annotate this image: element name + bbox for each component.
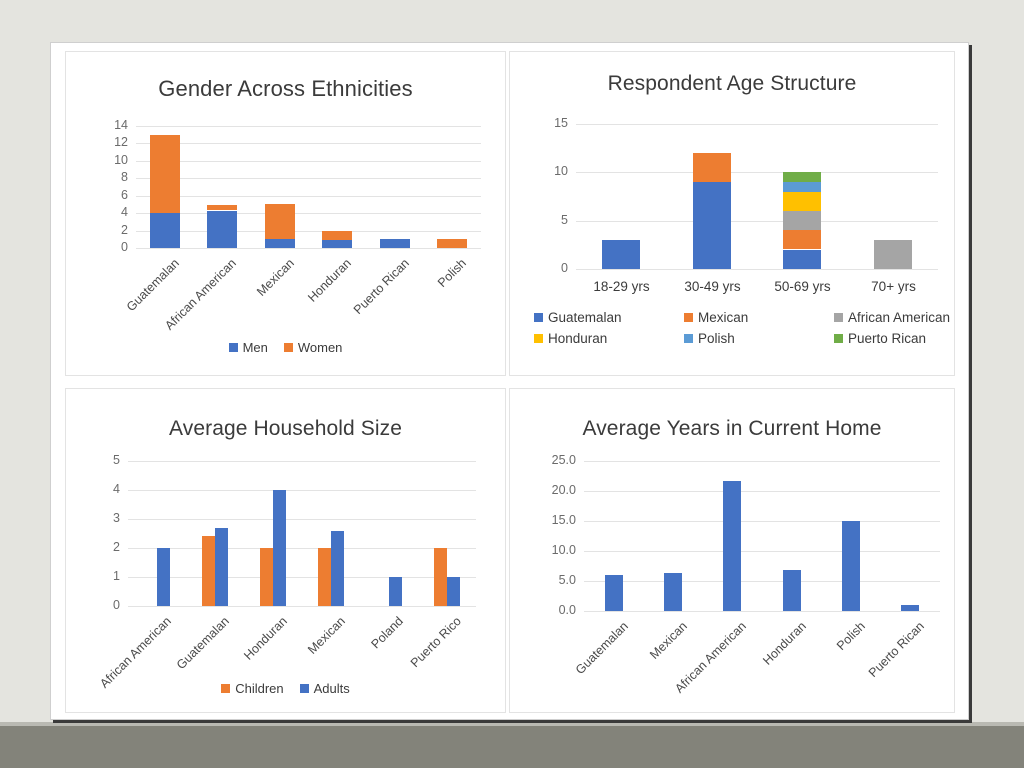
bar-segment[interactable] (322, 231, 352, 240)
y-axis-tick-label: 14 (82, 118, 128, 132)
chart-panel-average-years-in-current-home[interactable]: Average Years in Current Home 0.05.010.0… (509, 388, 955, 713)
x-axis-category-label: 30-49 yrs (667, 279, 758, 294)
gridline (136, 213, 481, 214)
gridline (576, 221, 938, 222)
legend-item[interactable]: Women (284, 340, 343, 355)
gridline (128, 461, 476, 462)
bar[interactable] (447, 577, 460, 606)
y-axis-tick-label: 8 (82, 170, 128, 184)
gridline (136, 196, 481, 197)
bar[interactable] (260, 548, 273, 606)
gridline (576, 269, 938, 270)
x-axis-category-label: African American (116, 256, 239, 376)
gridline (584, 461, 940, 462)
x-axis-category-label: Mexican (174, 256, 297, 376)
y-axis-tick-label: 20.0 (530, 483, 576, 497)
legend-swatch-icon (284, 343, 293, 352)
y-axis-tick-label: 3 (74, 511, 120, 525)
bar-segment[interactable] (380, 239, 410, 248)
bar-segment[interactable] (693, 182, 731, 269)
gridline (584, 581, 940, 582)
bar[interactable] (202, 536, 215, 606)
bar[interactable] (273, 490, 286, 606)
chart-panel-average-household-size[interactable]: Average Household Size 012345African Ame… (65, 388, 506, 713)
gridline (136, 178, 481, 179)
gridline (128, 490, 476, 491)
bar-segment[interactable] (693, 153, 731, 182)
legend-label: Guatemalan (548, 310, 622, 325)
gridline (136, 161, 481, 162)
legend-swatch-icon (684, 313, 693, 322)
gridline (136, 126, 481, 127)
bar-segment[interactable] (783, 182, 821, 192)
chart-title-gender-across-ethnicities: Gender Across Ethnicities (66, 76, 505, 102)
bar-segment[interactable] (322, 239, 352, 248)
legend-item[interactable]: Puerto Rican (834, 331, 955, 346)
x-axis-category-label: 18-29 yrs (576, 279, 667, 294)
gridline (136, 231, 481, 232)
legend-item[interactable]: Honduran (534, 331, 684, 346)
y-axis-tick-label: 4 (74, 482, 120, 496)
y-axis-tick-label: 10 (82, 153, 128, 167)
legend-label: Mexican (698, 310, 748, 325)
y-axis-tick-label: 5 (74, 453, 120, 467)
x-axis-category-label: Honduran (231, 256, 354, 376)
legend-swatch-icon (221, 684, 230, 693)
gridline (576, 124, 938, 125)
legend-item[interactable]: Adults (300, 681, 350, 696)
legend-swatch-icon (534, 334, 543, 343)
bar-segment[interactable] (150, 213, 180, 248)
legend-item[interactable]: Guatemalan (534, 310, 684, 325)
legend-label: Adults (314, 681, 350, 696)
gridline (584, 491, 940, 492)
bar[interactable] (664, 573, 682, 611)
legend-item[interactable]: African American (834, 310, 955, 325)
bar[interactable] (331, 531, 344, 606)
y-axis-tick-label: 5 (522, 213, 568, 227)
x-axis-category-label: Guatemalan (65, 256, 182, 376)
bar-segment[interactable] (783, 211, 821, 230)
plot-area-average-household-size: 012345African AmericanGuatemalanHonduran… (128, 461, 476, 606)
chart-title-respondent-age-structure: Respondent Age Structure (510, 72, 954, 96)
gridline (576, 172, 938, 173)
legend-swatch-icon (684, 334, 693, 343)
gridline (584, 521, 940, 522)
y-axis-tick-label: 15.0 (530, 513, 576, 527)
legend-label: Puerto Rican (848, 331, 926, 346)
gridline (128, 548, 476, 549)
legend-swatch-icon (300, 684, 309, 693)
y-axis-tick-label: 10 (522, 164, 568, 178)
y-axis-tick-label: 2 (82, 223, 128, 237)
bar-segment[interactable] (783, 250, 821, 269)
presentation-slide: Gender Across Ethnicities 02468101214Gua… (50, 42, 969, 720)
gridline (136, 248, 481, 249)
bar[interactable] (318, 548, 331, 606)
legend-swatch-icon (534, 313, 543, 322)
gridline (584, 551, 940, 552)
gridline (136, 143, 481, 144)
legend-swatch-icon (834, 313, 843, 322)
y-axis-tick-label: 5.0 (530, 573, 576, 587)
x-axis-category-label: Puerto Rican (289, 256, 412, 376)
legend-item[interactable]: Men (229, 340, 268, 355)
legend-item[interactable]: Polish (684, 331, 834, 346)
bar[interactable] (434, 548, 447, 606)
bar-segment[interactable] (207, 205, 237, 210)
bar[interactable] (215, 528, 228, 606)
y-axis-tick-label: 0 (74, 598, 120, 612)
bar[interactable] (605, 575, 623, 611)
bar-segment[interactable] (783, 230, 821, 249)
y-axis-tick-label: 10.0 (530, 543, 576, 557)
chart-title-average-household-size: Average Household Size (66, 417, 505, 441)
bar[interactable] (901, 605, 919, 611)
y-axis-tick-label: 6 (82, 188, 128, 202)
bar[interactable] (842, 521, 860, 611)
legend-label: African American (848, 310, 950, 325)
x-axis-category-label: Polish (346, 256, 469, 376)
legend-label: Honduran (548, 331, 607, 346)
bar-segment[interactable] (783, 172, 821, 182)
gridline (128, 519, 476, 520)
bar-segment[interactable] (602, 240, 640, 269)
y-axis-tick-label: 12 (82, 135, 128, 149)
bar-segment[interactable] (265, 204, 295, 239)
chart-panel-respondent-age-structure[interactable]: Respondent Age Structure 05101518-29 yrs… (509, 51, 955, 376)
bar-segment[interactable] (783, 192, 821, 211)
y-axis-tick-label: 2 (74, 540, 120, 554)
legend-item[interactable]: Children (221, 681, 283, 696)
plot-area-average-years-in-current-home: 0.05.010.015.020.025.0GuatemalanMexicanA… (584, 461, 940, 611)
gridline (128, 577, 476, 578)
legend-label: Polish (698, 331, 735, 346)
legend-gender-across-ethnicities[interactable]: MenWomen (66, 340, 505, 355)
y-axis-tick-label: 25.0 (530, 453, 576, 467)
bar[interactable] (783, 570, 801, 611)
bar[interactable] (389, 577, 402, 606)
y-axis-tick-label: 15 (522, 116, 568, 130)
legend-swatch-icon (834, 334, 843, 343)
legend-item[interactable]: Mexican (684, 310, 834, 325)
y-axis-tick-label: 4 (82, 205, 128, 219)
chart-panel-gender-across-ethnicities[interactable]: Gender Across Ethnicities 02468101214Gua… (65, 51, 506, 376)
legend-swatch-icon (229, 343, 238, 352)
legend-respondent-age-structure[interactable]: GuatemalanMexicanAfrican AmericanHondura… (534, 310, 955, 346)
legend-label: Women (298, 340, 343, 355)
legend-label: Children (235, 681, 283, 696)
legend-average-household-size[interactable]: ChildrenAdults (66, 681, 505, 696)
y-axis-tick-label: 1 (74, 569, 120, 583)
bar[interactable] (157, 548, 170, 606)
bar-segment[interactable] (265, 239, 295, 248)
gridline (584, 611, 940, 612)
bar-segment[interactable] (150, 135, 180, 213)
y-axis-tick-label: 0 (522, 261, 568, 275)
slide-viewer: Gender Across Ethnicities 02468101214Gua… (0, 0, 1024, 768)
chart-title-average-years-in-current-home: Average Years in Current Home (510, 417, 954, 441)
floor-band (0, 726, 1024, 768)
y-axis-tick-label: 0 (82, 240, 128, 254)
bar-segment[interactable] (207, 211, 237, 248)
plot-area-respondent-age-structure: 05101518-29 yrs30-49 yrs50-69 yrs70+ yrs (576, 124, 938, 269)
bar-segment[interactable] (874, 240, 912, 269)
bar-segment[interactable] (437, 239, 467, 248)
x-axis-category-label: 50-69 yrs (757, 279, 848, 294)
bar[interactable] (723, 481, 741, 611)
plot-area-gender-across-ethnicities: 02468101214GuatemalanAfrican AmericanMex… (136, 126, 481, 248)
x-axis-category-label: 70+ yrs (848, 279, 939, 294)
y-axis-tick-label: 0.0 (530, 603, 576, 617)
legend-label: Men (243, 340, 268, 355)
gridline (128, 606, 476, 607)
